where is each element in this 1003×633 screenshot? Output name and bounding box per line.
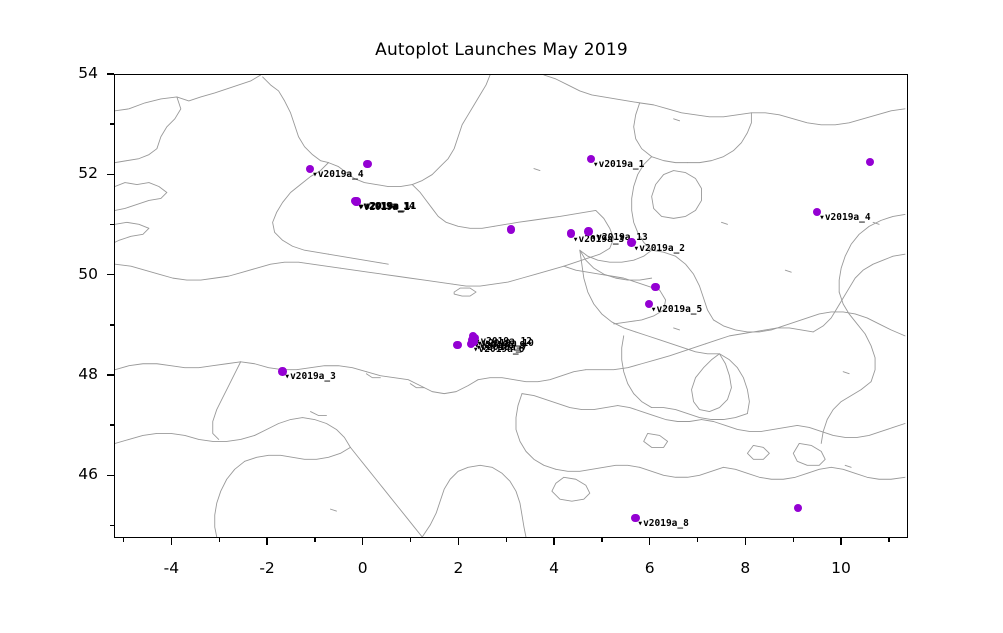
x-tick xyxy=(553,538,554,545)
x-tick-label: -2 xyxy=(237,559,297,577)
x-tick-minor xyxy=(314,538,315,542)
data-point-marker[interactable] xyxy=(866,158,874,166)
data-point-marker[interactable] xyxy=(453,341,461,349)
y-tick-minor xyxy=(110,424,114,425)
data-point-label: ▾v2019a_8 xyxy=(637,519,688,529)
data-point-label: ▾v2019a_5 xyxy=(651,305,702,315)
y-tick xyxy=(107,374,114,375)
y-tick-label: 50 xyxy=(40,265,98,283)
data-point-label: ▾v2019a_1 xyxy=(593,160,644,170)
y-tick-label: 48 xyxy=(40,365,98,383)
data-point-label: ▾v2019a_4 xyxy=(819,213,870,223)
x-tick-minor xyxy=(888,538,889,542)
x-tick-label: 10 xyxy=(811,559,871,577)
y-tick-label: 52 xyxy=(40,164,98,182)
x-tick-minor xyxy=(697,538,698,542)
data-point-label: ▾v2019a_3 xyxy=(284,372,335,382)
data-point-marker[interactable] xyxy=(651,283,659,291)
x-tick xyxy=(362,538,363,545)
data-point-label: ▾v2019a_4 xyxy=(312,170,363,180)
y-tick xyxy=(107,174,114,175)
y-tick-label: 54 xyxy=(40,64,98,82)
data-point-label: ▾v2019a_2 xyxy=(634,244,685,254)
x-tick-minor xyxy=(410,538,411,542)
data-point-label: ▾v2019a_13 xyxy=(590,233,647,243)
chart-title: Autoplot Launches May 2019 xyxy=(0,40,1003,60)
figure-canvas: Autoplot Launches May 2019 xyxy=(0,0,1003,633)
data-point-marker[interactable] xyxy=(507,225,515,233)
y-tick-label: 46 xyxy=(40,465,98,483)
y-tick xyxy=(107,274,114,275)
x-tick xyxy=(649,538,650,545)
x-tick xyxy=(745,538,746,545)
data-point-label: ▾v2019a_6 xyxy=(473,345,524,355)
x-tick-minor xyxy=(506,538,507,542)
y-tick-minor xyxy=(110,525,114,526)
y-tick-minor xyxy=(110,123,114,124)
x-tick-label: 6 xyxy=(620,559,680,577)
x-tick-minor xyxy=(219,538,220,542)
y-tick-minor xyxy=(110,224,114,225)
y-tick xyxy=(107,475,114,476)
x-tick-label: 0 xyxy=(333,559,393,577)
x-tick-label: 4 xyxy=(524,559,584,577)
x-tick xyxy=(171,538,172,545)
x-tick-label: 8 xyxy=(715,559,775,577)
x-tick-label: -4 xyxy=(141,559,201,577)
x-tick xyxy=(458,538,459,545)
data-point-label: ▾v2019a_1 xyxy=(358,203,409,213)
y-tick-minor xyxy=(110,324,114,325)
x-tick-label: 2 xyxy=(428,559,488,577)
x-tick-minor xyxy=(601,538,602,542)
map-plot-area[interactable] xyxy=(114,74,908,538)
x-tick xyxy=(840,538,841,545)
coastline-map xyxy=(115,75,907,537)
x-tick-minor xyxy=(793,538,794,542)
y-tick xyxy=(107,73,114,74)
x-tick-minor xyxy=(123,538,124,542)
x-tick xyxy=(266,538,267,545)
